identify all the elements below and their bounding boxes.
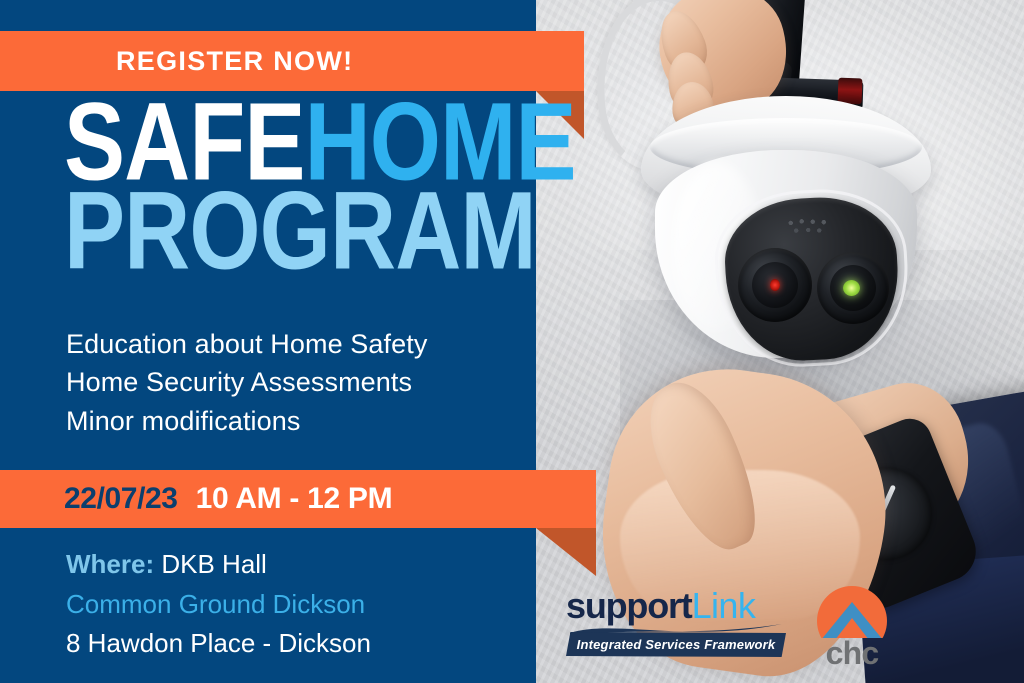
program-title: SAFEHOME PROGRAM <box>64 96 524 275</box>
event-date: 22/07/23 <box>64 482 178 516</box>
venue-place: Common Ground Dickson <box>66 585 526 625</box>
chc-chevron-icon <box>819 600 885 638</box>
chc-mark-icon <box>817 586 887 638</box>
venue-name: DKB Hall <box>161 549 266 579</box>
detail-item: Education about Home Safety <box>66 325 526 363</box>
venue-address: 8 Hawdon Place - Dickson <box>66 624 526 664</box>
supportlink-tagline: Integrated Services Framework <box>577 637 776 652</box>
datetime-banner-fold <box>536 528 596 576</box>
datetime-banner: 22/07/23 10 AM - 12 PM <box>0 470 596 528</box>
supportlink-wordmark: supportLink <box>566 588 788 624</box>
camera-red-led <box>770 279 780 291</box>
chc-logo: chc <box>806 586 898 666</box>
supportlink-word-support: support <box>566 585 692 626</box>
venue-label: Where: <box>66 549 154 579</box>
supportlink-logo: supportLink Integrated Services Framewor… <box>566 588 788 660</box>
camera-mic-grille <box>786 217 831 237</box>
venue-block: Where: DKB Hall Common Ground Dickson 8 … <box>66 545 526 664</box>
title-word-program: PROGRAM <box>64 185 469 280</box>
program-details-list: Education about Home Safety Home Securit… <box>66 325 526 440</box>
mount-red-marker <box>838 78 863 105</box>
flyer-canvas: REGISTER NOW! SAFEHOME PROGRAM Education… <box>0 0 1024 683</box>
venue-line-1: Where: DKB Hall <box>66 545 526 585</box>
event-time: 10 AM - 12 PM <box>196 482 393 516</box>
supportlink-word-link: Link <box>692 585 756 626</box>
register-now-label: REGISTER NOW! <box>116 46 353 77</box>
chc-wordmark: chc <box>806 639 898 668</box>
camera-green-led <box>843 280 860 296</box>
detail-item: Minor modifications <box>66 402 526 440</box>
detail-item: Home Security Assessments <box>66 363 526 401</box>
supportlink-ribbon: Integrated Services Framework <box>566 632 786 657</box>
